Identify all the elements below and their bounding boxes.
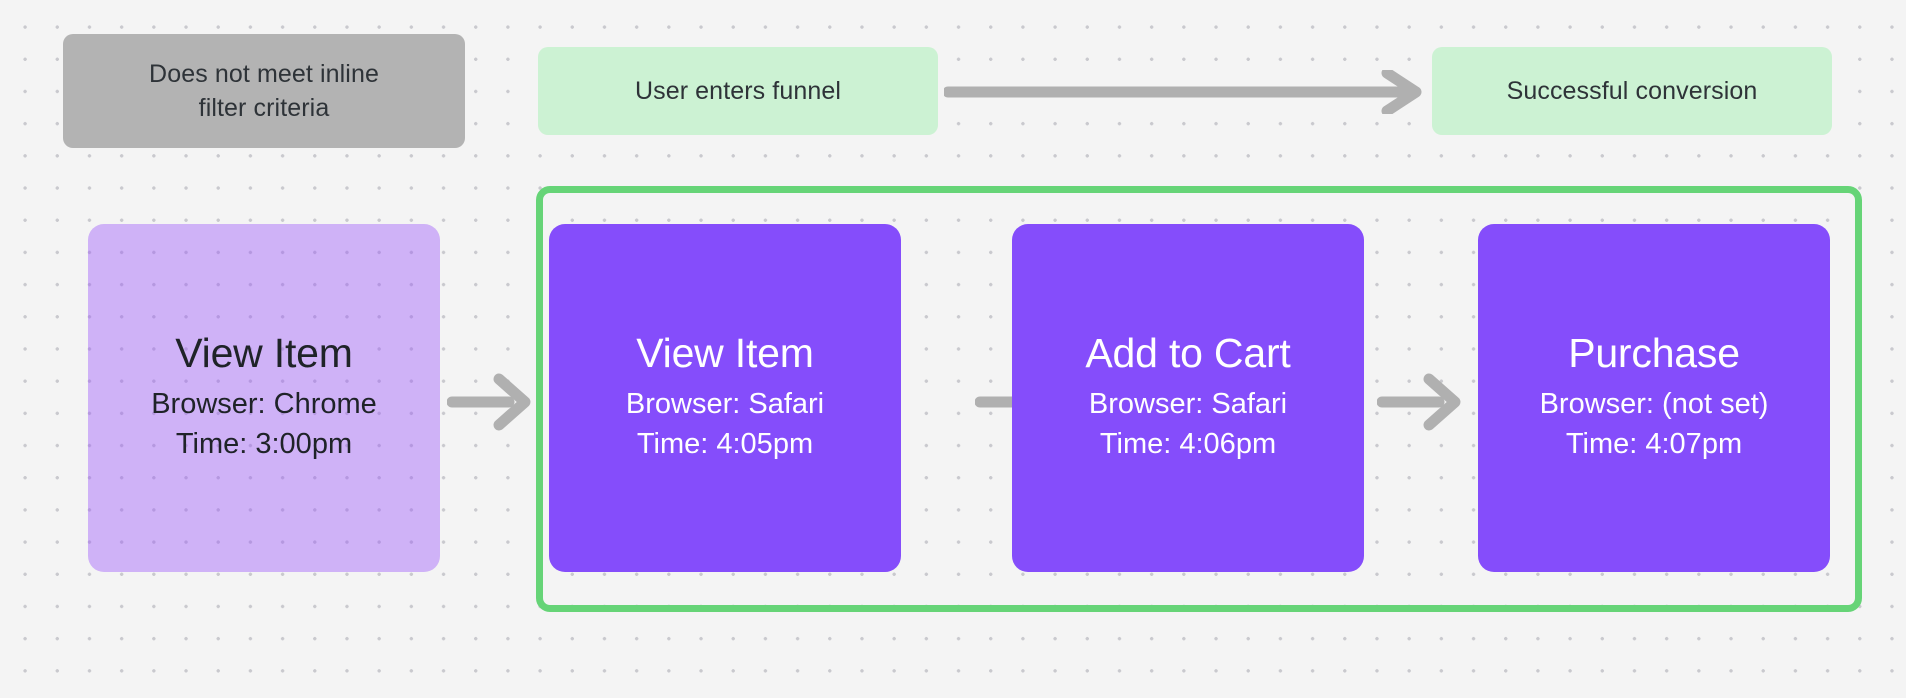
event-card-time: Time: 4:07pm (1566, 424, 1742, 464)
event-card-view-item-excluded[interactable]: View Item Browser: Chrome Time: 3:00pm (88, 224, 440, 572)
legend-flow-arrow (944, 70, 1424, 114)
legend-successful-conversion: Successful conversion (1432, 47, 1832, 135)
event-card-add-to-cart[interactable]: Add to Cart Browser: Safari Time: 4:06pm (1012, 224, 1364, 572)
legend-excluded-criteria: Does not meet inline filter criteria (63, 34, 465, 148)
event-card-time: Time: 3:00pm (176, 424, 352, 464)
event-card-title: Add to Cart (1085, 332, 1290, 375)
legend-conversion-label: Successful conversion (1507, 74, 1758, 109)
event-card-time: Time: 4:06pm (1100, 424, 1276, 464)
event-card-view-item-included[interactable]: View Item Browser: Safari Time: 4:05pm (549, 224, 901, 572)
event-card-time: Time: 4:05pm (637, 424, 813, 464)
legend-user-enters-funnel: User enters funnel (538, 47, 938, 135)
event-card-browser: Browser: Safari (626, 384, 824, 424)
legend-excluded-line1: Does not meet inline (149, 60, 379, 88)
event-card-browser: Browser: Chrome (151, 384, 377, 424)
event-card-browser: Browser: (not set) (1540, 384, 1769, 424)
diagram-canvas: Does not meet inline filter criteria Use… (0, 0, 1906, 698)
legend-excluded-line2: filter criteria (199, 94, 330, 122)
event-card-purchase[interactable]: Purchase Browser: (not set) Time: 4:07pm (1478, 224, 1830, 572)
step-arrow-1 (447, 371, 533, 433)
legend-excluded-label: Does not meet inline filter criteria (149, 57, 379, 126)
legend-enters-funnel-label: User enters funnel (635, 74, 841, 109)
event-card-title: View Item (636, 332, 813, 375)
event-card-browser: Browser: Safari (1089, 384, 1287, 424)
event-card-title: View Item (175, 332, 352, 375)
event-card-title: Purchase (1568, 332, 1740, 375)
